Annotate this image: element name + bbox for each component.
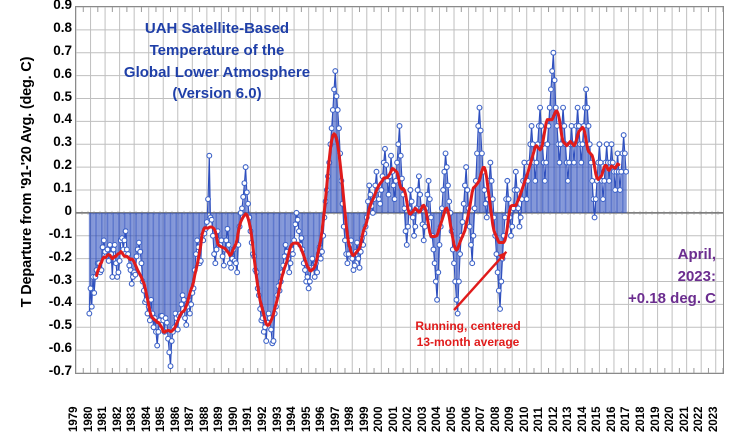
x-tick-label: 1992 (257, 406, 269, 432)
y-tick-label: 0.2 (36, 157, 72, 172)
chart-figure: T Departure from '91-'20 Avg. (deg. C) 0… (0, 0, 749, 432)
x-tick-label: 1979 (68, 406, 80, 432)
x-tick-label: 1980 (83, 406, 95, 432)
y-tick-label: 0.8 (36, 20, 72, 35)
x-tick-label: 2019 (650, 406, 662, 432)
x-tick-label: 1994 (286, 406, 298, 432)
x-tick-label: 2006 (461, 406, 473, 432)
x-tick-label: 2003 (417, 406, 429, 432)
x-tick-label: 2013 (562, 406, 574, 432)
x-tick-label: 2004 (431, 406, 443, 432)
y-tick-label: -0.5 (36, 317, 72, 332)
x-tick-label: 1998 (344, 406, 356, 432)
latest-value-annotation: April,2023:+0.18 deg. C (556, 244, 716, 309)
x-tick-label: 1995 (301, 406, 313, 432)
y-tick-label: 0.3 (36, 134, 72, 149)
x-tick-label: 2000 (373, 406, 385, 432)
x-tick-label: 1982 (112, 406, 124, 432)
y-tick-label: 0.5 (36, 89, 72, 104)
x-tick-label: 2021 (679, 406, 691, 432)
x-tick-label: 1981 (97, 406, 109, 432)
x-tick-label: 2017 (620, 406, 632, 432)
x-tick-label: 1988 (199, 406, 211, 432)
x-tick-label: 1997 (330, 406, 342, 432)
y-tick-label: 0.7 (36, 43, 72, 58)
y-tick-label: -0.7 (36, 363, 72, 378)
y-tick-label: -0.4 (36, 294, 72, 309)
running-average-annotation: Running, centered13-month average (378, 318, 558, 350)
x-tick-label: 2014 (577, 406, 589, 432)
x-tick-label: 2018 (635, 406, 647, 432)
x-tick-label: 2022 (693, 406, 705, 432)
x-tick-label: 1999 (359, 406, 371, 432)
y-tick-label: 0.1 (36, 180, 72, 195)
y-tick-label: -0.6 (36, 340, 72, 355)
x-tick-label: 2011 (533, 407, 545, 432)
x-tick-label: 1990 (228, 406, 240, 432)
x-tick-label: 2001 (388, 406, 400, 432)
x-tick-label: 1987 (184, 406, 196, 432)
x-tick-label: 2010 (519, 406, 531, 432)
y-tick-label: -0.1 (36, 226, 72, 241)
y-tick-label: 0 (36, 203, 72, 218)
x-tick-label: 2005 (446, 406, 458, 432)
y-tick-label: -0.2 (36, 249, 72, 264)
x-tick-label: 2002 (402, 406, 414, 432)
y-tick-label: 0.4 (36, 111, 72, 126)
latest-value-line: April, (556, 244, 716, 266)
x-tick-label: 1991 (242, 406, 254, 432)
x-tick-label: 2012 (548, 406, 560, 432)
chart-title-line: UAH Satellite-Based (92, 18, 342, 40)
x-tick-label: 2007 (475, 406, 487, 432)
running-average-line-label: Running, centered (378, 318, 558, 334)
chart-title-line: Global Lower Atmosphere (92, 62, 342, 84)
y-axis-tick-labels: 0.90.80.70.60.50.40.30.20.10-0.1-0.2-0.3… (30, 0, 72, 432)
x-tick-label: 1986 (170, 406, 182, 432)
x-tick-label: 1984 (141, 406, 153, 432)
x-tick-label: 2008 (490, 406, 502, 432)
x-tick-label: 1993 (272, 406, 284, 432)
y-tick-label: -0.3 (36, 272, 72, 287)
x-tick-label: 1983 (126, 406, 138, 432)
latest-value-line: 2023: (556, 266, 716, 288)
running-average-line-label: 13-month average (378, 334, 558, 350)
chart-title-line: Temperature of the (92, 40, 342, 62)
y-tick-label: 0.6 (36, 66, 72, 81)
latest-value-line: +0.18 deg. C (556, 288, 716, 310)
x-tick-label: 1989 (213, 406, 225, 432)
x-tick-label: 2016 (606, 406, 618, 432)
x-tick-label: 2023 (708, 406, 720, 432)
x-axis-tick-labels: 1979198019811982198319841985198619871988… (75, 376, 724, 432)
chart-title-line: (Version 6.0) (92, 83, 342, 105)
x-tick-label: 2015 (591, 406, 603, 432)
x-tick-label: 1985 (155, 406, 167, 432)
x-tick-label: 2020 (664, 406, 676, 432)
y-tick-label: 0.9 (36, 0, 72, 12)
x-tick-label: 1996 (315, 406, 327, 432)
x-tick-label: 2009 (504, 406, 516, 432)
chart-title-annotation: UAH Satellite-BasedTemperature of theGlo… (92, 18, 342, 105)
